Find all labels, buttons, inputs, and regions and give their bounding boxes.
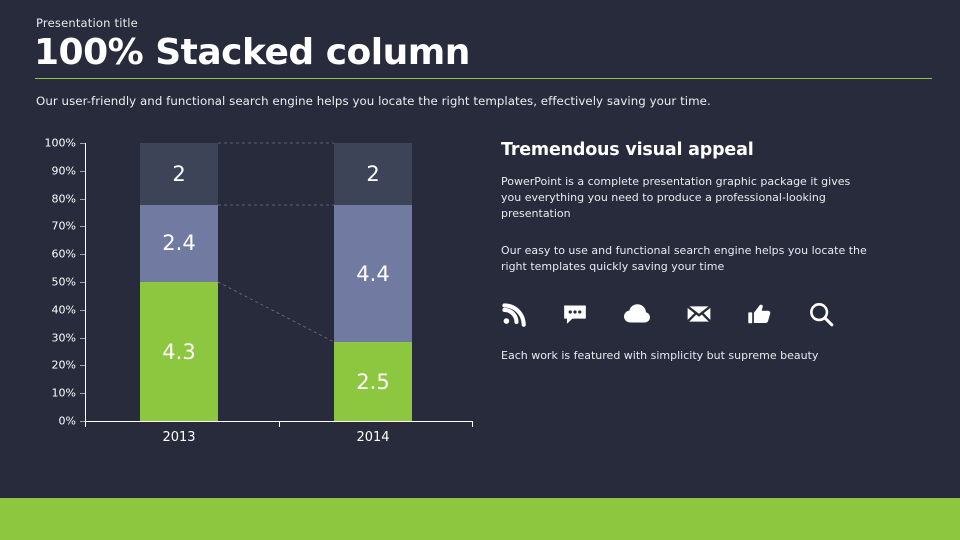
y-axis-line xyxy=(85,143,86,421)
bar-value-label: 2 xyxy=(366,162,379,186)
y-axis-tick-label: 20% xyxy=(52,359,76,372)
bar-segment[interactable]: 4.3 xyxy=(140,282,218,421)
bar-segment[interactable]: 2 xyxy=(140,143,218,205)
title-divider xyxy=(35,78,932,79)
y-axis-tick-label: 70% xyxy=(52,220,76,233)
slide-root: Presentation title 100% Stacked column O… xyxy=(0,0,960,540)
bar-segment[interactable]: 4.4 xyxy=(334,205,412,342)
y-axis-tick-label: 40% xyxy=(52,303,76,316)
x-axis-category-label: 2013 xyxy=(162,430,195,445)
info-panel: Tremendous visual appeal PowerPoint is a… xyxy=(501,140,911,362)
y-axis-tick-label: 60% xyxy=(52,248,76,261)
panel-caption: Each work is featured with simplicity bu… xyxy=(501,349,911,362)
presentation-title-eyebrow: Presentation title xyxy=(36,16,138,30)
y-axis-tick-label: 0% xyxy=(59,415,76,428)
stacked-column-chart: 100%90%80%70%60%50%40%30%20%10%0% 4.32.4… xyxy=(0,130,500,490)
panel-paragraph-1: PowerPoint is a complete presentation gr… xyxy=(501,174,867,222)
y-axis-tick-label: 100% xyxy=(45,137,76,150)
chart-bar[interactable]: 4.32.42 xyxy=(140,143,218,421)
y-axis-tick-label: 90% xyxy=(52,164,76,177)
y-axis-tick-label: 30% xyxy=(52,331,76,344)
bar-segment[interactable]: 2.4 xyxy=(140,205,218,282)
rss-icon[interactable] xyxy=(501,301,527,327)
comment-bubble-icon[interactable] xyxy=(562,301,588,327)
slide-subtitle: Our user-friendly and functional search … xyxy=(36,94,711,108)
feature-icon-row xyxy=(501,301,911,327)
page-title: 100% Stacked column xyxy=(34,32,470,73)
bar-segment[interactable]: 2 xyxy=(334,143,412,205)
cloud-icon[interactable] xyxy=(623,301,651,327)
bar-value-label: 2.4 xyxy=(162,231,195,255)
x-axis-tick xyxy=(85,421,86,427)
search-icon[interactable] xyxy=(808,301,834,327)
connector-line xyxy=(218,282,334,342)
bar-segment[interactable]: 2.5 xyxy=(334,342,412,421)
envelope-icon[interactable] xyxy=(686,301,712,327)
bar-value-label: 2.5 xyxy=(356,370,389,394)
y-axis-labels: 100%90%80%70%60%50%40%30%20%10%0% xyxy=(26,130,76,430)
bar-value-label: 4.3 xyxy=(162,340,195,364)
thumbs-up-icon[interactable] xyxy=(747,301,773,327)
x-axis-category-label: 2014 xyxy=(356,430,389,445)
footer-accent-bar xyxy=(0,498,960,540)
panel-heading: Tremendous visual appeal xyxy=(501,140,911,160)
chart-bar[interactable]: 2.54.42 xyxy=(334,143,412,421)
y-axis-tick-label: 10% xyxy=(52,387,76,400)
panel-paragraph-2: Our easy to use and functional search en… xyxy=(501,243,867,275)
bar-value-label: 2 xyxy=(172,162,185,186)
x-axis-tick xyxy=(472,421,473,427)
bar-value-label: 4.4 xyxy=(356,262,389,286)
y-axis-tick-label: 50% xyxy=(52,276,76,289)
y-axis-tick-label: 80% xyxy=(52,192,76,205)
x-axis-tick xyxy=(279,421,280,427)
